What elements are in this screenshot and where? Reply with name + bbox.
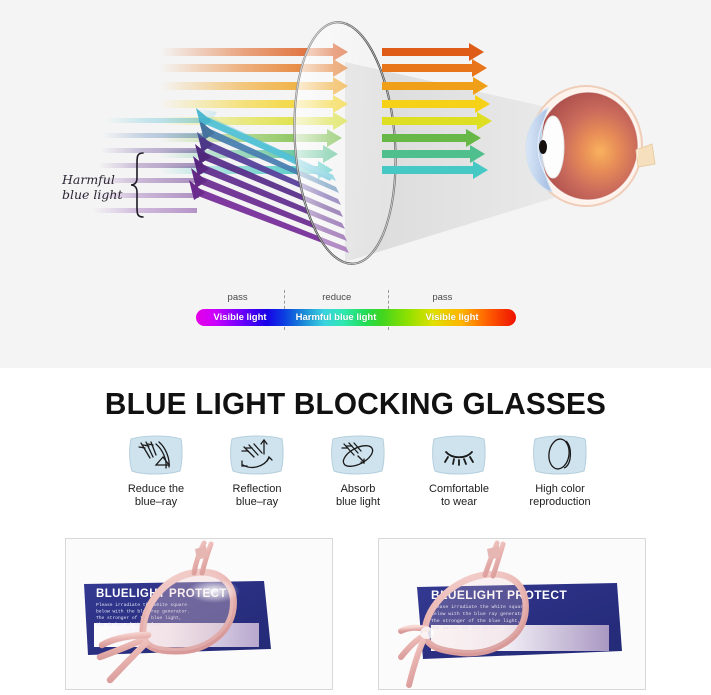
- feature-label-line-2: to wear: [429, 496, 489, 509]
- feature-label-line-1: Comfortable: [429, 483, 489, 496]
- reflection-blue-ray-icon: [226, 432, 288, 477]
- segment-visible-light-right: Visible light: [388, 309, 516, 326]
- feature-label: Comfortable to wear: [429, 483, 489, 509]
- transmitted-ray-1: [382, 43, 484, 61]
- feature-label: Absorb blue light: [336, 483, 380, 509]
- human-eye: [526, 86, 655, 206]
- product-photo-test-card-right: BLUELIGHT PROTECT Please irradiate the w…: [378, 538, 646, 690]
- absorb-blue-light-icon: [327, 432, 389, 477]
- feature-reflection-blue-ray: Reflection blue–ray: [209, 432, 305, 527]
- spectrum-tick-labels: pass reduce pass: [196, 292, 516, 308]
- feature-high-color-reproduction: High color reproduction: [512, 432, 608, 527]
- spectrum-tick-reduce: reduce: [322, 292, 351, 303]
- page-title: BLUE LIGHT BLOCKING GLASSES: [14, 386, 697, 422]
- feature-label-line-2: blue–ray: [128, 496, 184, 509]
- product-infographic-page: Harmful blue light pass reduce pass Visi…: [0, 0, 711, 695]
- blue-light-diagram-panel: Harmful blue light pass reduce pass Visi…: [0, 0, 711, 368]
- feature-label-line-2: reproduction: [529, 496, 590, 509]
- spectrum-tick-pass-right: pass: [432, 292, 452, 303]
- feature-label-line-2: blue–ray: [233, 496, 282, 509]
- harmful-label-line-2: blue light: [62, 187, 132, 202]
- feature-label-line-1: High color: [529, 483, 590, 496]
- high-color-reproduction-icon: [529, 432, 591, 477]
- segment-visible-light-left: Visible light: [196, 309, 284, 326]
- visible-spectrum-legend: pass reduce pass Visible light Harmful b…: [196, 292, 516, 332]
- harmful-blue-light-label: Harmful blue light: [62, 172, 132, 202]
- feature-comfortable-to-wear: Comfortable to wear: [411, 432, 507, 527]
- harmful-label-line-1: Harmful: [62, 172, 132, 187]
- feature-label: Reduce the blue–ray: [128, 483, 184, 509]
- feature-label-line-1: Reduce the: [128, 483, 184, 496]
- product-photo-test-card-left: BLUELIGHT PROTECT Please irradiate the w…: [65, 538, 333, 690]
- feature-reduce-blue-ray: Reduce the blue–ray: [108, 432, 204, 527]
- feature-label: High color reproduction: [529, 483, 590, 509]
- feature-list: Reduce the blue–ray: [108, 432, 608, 527]
- feature-label-line-1: Absorb: [336, 483, 380, 496]
- spectrum-gradient-bar: Visible light Harmful blue light Visible…: [196, 309, 516, 326]
- feature-label: Reflection blue–ray: [233, 483, 282, 509]
- comfortable-to-wear-icon: [428, 432, 490, 477]
- feature-label-line-2: blue light: [336, 496, 380, 509]
- feature-absorb-blue-light: Absorb blue light: [310, 432, 406, 527]
- harmful-range-brace: [131, 153, 143, 217]
- lens-ellipse: [287, 19, 404, 267]
- feature-label-line-1: Reflection: [233, 483, 282, 496]
- segment-harmful-blue-light: Harmful blue light: [284, 309, 388, 326]
- spectrum-tick-pass-left: pass: [228, 292, 248, 303]
- reduce-blue-ray-icon: [125, 432, 187, 477]
